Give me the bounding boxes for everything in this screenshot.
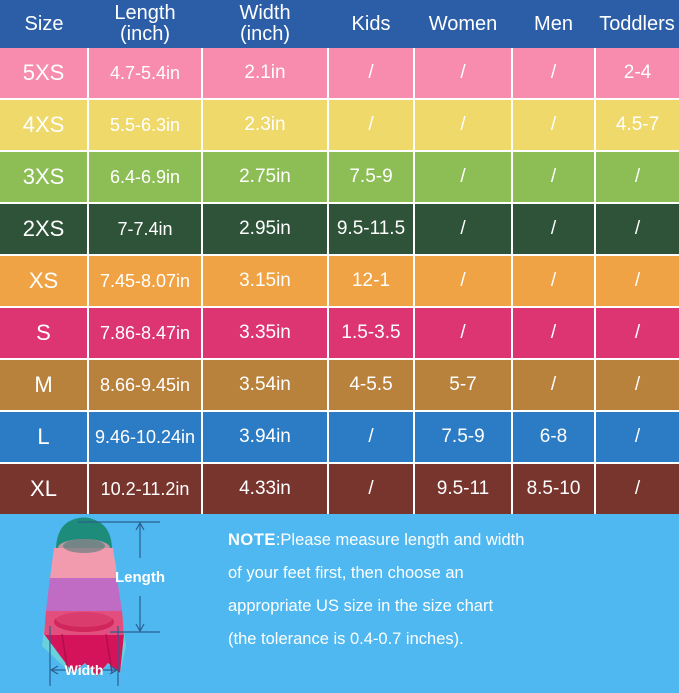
- cell-length: 7.86-8.47in: [88, 307, 202, 359]
- column-header-size-label: Size: [25, 13, 64, 35]
- column-header-width-label: Width: [239, 2, 290, 24]
- cell-size: 4XS: [0, 99, 88, 151]
- note-line-2: of your feet first, then choose an: [228, 557, 668, 590]
- fin-mid-band: [46, 577, 122, 611]
- column-header-men: Men: [512, 0, 595, 48]
- cell-width: 4.33in: [202, 463, 328, 514]
- fin-diagram-svg: Length Width: [0, 514, 210, 693]
- cell-men: /: [512, 151, 595, 203]
- table-row: L9.46-10.24in3.94in/7.5-96-8/: [0, 411, 679, 463]
- cell-kids: /: [328, 411, 414, 463]
- table-header: Size Length (inch) Width (inch) Kids Wom…: [0, 0, 679, 48]
- cell-width: 2.1in: [202, 48, 328, 99]
- cell-length: 4.7-5.4in: [88, 48, 202, 99]
- cell-length: 7.45-8.07in: [88, 255, 202, 307]
- cell-toddlers: /: [595, 463, 679, 514]
- column-header-width-unit: (inch): [204, 24, 326, 45]
- cell-size: 2XS: [0, 203, 88, 255]
- cell-toddlers: 2-4: [595, 48, 679, 99]
- cell-toddlers: /: [595, 307, 679, 359]
- cell-women: 7.5-9: [414, 411, 512, 463]
- column-header-toddlers: Toddlers: [595, 0, 679, 48]
- cell-size: S: [0, 307, 88, 359]
- fin-toe-opening-inner: [63, 539, 105, 553]
- table-row: XS7.45-8.07in3.15in12-1///: [0, 255, 679, 307]
- table-row: S7.86-8.47in3.35in1.5-3.5///: [0, 307, 679, 359]
- cell-men: 8.5-10: [512, 463, 595, 514]
- cell-women: /: [414, 151, 512, 203]
- cell-men: /: [512, 359, 595, 411]
- table-body: 5XS4.7-5.4in2.1in///2-44XS5.5-6.3in2.3in…: [0, 48, 679, 514]
- cell-length: 5.5-6.3in: [88, 99, 202, 151]
- cell-width: 3.15in: [202, 255, 328, 307]
- column-header-women-label: Women: [429, 13, 498, 35]
- cell-size: 3XS: [0, 151, 88, 203]
- fin-diagram: Length Width: [0, 514, 210, 693]
- note-panel: Length Width NOTE:Please measure length …: [0, 514, 679, 693]
- cell-women: /: [414, 99, 512, 151]
- column-header-size: Size: [0, 0, 88, 48]
- cell-women: 9.5-11: [414, 463, 512, 514]
- cell-toddlers: /: [595, 411, 679, 463]
- column-header-length: Length (inch): [88, 0, 202, 48]
- note-label: NOTE: [228, 531, 276, 549]
- cell-kids: 7.5-9: [328, 151, 414, 203]
- cell-women: /: [414, 307, 512, 359]
- table-row: 5XS4.7-5.4in2.1in///2-4: [0, 48, 679, 99]
- size-chart-page: Size Length (inch) Width (inch) Kids Wom…: [0, 0, 679, 679]
- note-line-4: (the tolerance is 0.4-0.7 inches).: [228, 623, 668, 656]
- cell-length: 7-7.4in: [88, 203, 202, 255]
- cell-women: 5-7: [414, 359, 512, 411]
- cell-women: /: [414, 48, 512, 99]
- column-header-women: Women: [414, 0, 512, 48]
- cell-length: 9.46-10.24in: [88, 411, 202, 463]
- cell-men: /: [512, 48, 595, 99]
- cell-men: /: [512, 307, 595, 359]
- table-row: 2XS7-7.4in2.95in9.5-11.5///: [0, 203, 679, 255]
- cell-size: M: [0, 359, 88, 411]
- cell-men: /: [512, 99, 595, 151]
- cell-kids: 12-1: [328, 255, 414, 307]
- cell-toddlers: /: [595, 151, 679, 203]
- cell-width: 3.35in: [202, 307, 328, 359]
- cell-women: /: [414, 203, 512, 255]
- cell-length: 8.66-9.45in: [88, 359, 202, 411]
- cell-kids: /: [328, 463, 414, 514]
- column-header-width: Width (inch): [202, 0, 328, 48]
- table-row: XL10.2-11.2in4.33in/9.5-118.5-10/: [0, 463, 679, 514]
- cell-width: 3.54in: [202, 359, 328, 411]
- column-header-toddlers-label: Toddlers: [599, 13, 675, 35]
- fin-heel-opening-inner: [56, 611, 112, 627]
- note-text-block: NOTE:Please measure length and width of …: [228, 524, 668, 656]
- column-header-kids: Kids: [328, 0, 414, 48]
- table-row: M8.66-9.45in3.54in4-5.55-7//: [0, 359, 679, 411]
- cell-size: 5XS: [0, 48, 88, 99]
- column-header-kids-label: Kids: [352, 13, 391, 35]
- cell-men: /: [512, 255, 595, 307]
- cell-kids: 4-5.5: [328, 359, 414, 411]
- cell-men: /: [512, 203, 595, 255]
- cell-width: 2.75in: [202, 151, 328, 203]
- table-row: 4XS5.5-6.3in2.3in///4.5-7: [0, 99, 679, 151]
- length-label: Length: [115, 569, 165, 586]
- note-line-3: appropriate US size in the size chart: [228, 590, 668, 623]
- table-header-row: Size Length (inch) Width (inch) Kids Wom…: [0, 0, 679, 48]
- cell-men: 6-8: [512, 411, 595, 463]
- table-row: 3XS6.4-6.9in2.75in7.5-9///: [0, 151, 679, 203]
- cell-women: /: [414, 255, 512, 307]
- column-header-length-label: Length: [114, 2, 175, 24]
- cell-width: 2.3in: [202, 99, 328, 151]
- cell-toddlers: /: [595, 359, 679, 411]
- cell-toddlers: 4.5-7: [595, 99, 679, 151]
- cell-length: 6.4-6.9in: [88, 151, 202, 203]
- cell-size: XL: [0, 463, 88, 514]
- size-chart-table: Size Length (inch) Width (inch) Kids Wom…: [0, 0, 679, 514]
- swim-fin-illustration: [42, 518, 126, 678]
- note-line-1: NOTE:Please measure length and width: [228, 524, 668, 557]
- note-line-1-text: :Please measure length and width: [276, 531, 525, 549]
- column-header-men-label: Men: [534, 13, 573, 35]
- cell-kids: /: [328, 48, 414, 99]
- cell-size: L: [0, 411, 88, 463]
- cell-width: 2.95in: [202, 203, 328, 255]
- cell-length: 10.2-11.2in: [88, 463, 202, 514]
- cell-kids: 9.5-11.5: [328, 203, 414, 255]
- width-label: Width: [65, 662, 104, 678]
- cell-kids: 1.5-3.5: [328, 307, 414, 359]
- cell-toddlers: /: [595, 203, 679, 255]
- cell-kids: /: [328, 99, 414, 151]
- column-header-length-unit: (inch): [90, 24, 200, 45]
- cell-toddlers: /: [595, 255, 679, 307]
- cell-width: 3.94in: [202, 411, 328, 463]
- cell-size: XS: [0, 255, 88, 307]
